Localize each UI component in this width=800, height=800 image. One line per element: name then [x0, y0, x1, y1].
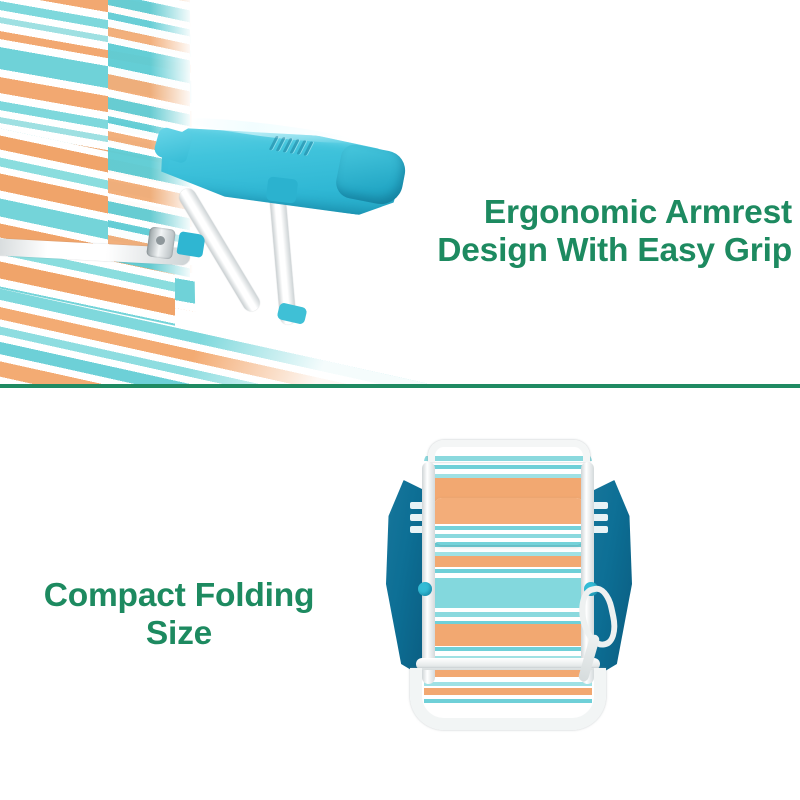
pillow-orange-band [434, 498, 584, 524]
panel-divider [0, 384, 800, 388]
chair-armrest-photo [0, 0, 420, 385]
folded-frame-top-bar [428, 440, 590, 462]
infographic-page: Ergonomic Armrest Design With Easy Grip [0, 0, 800, 800]
folded-frame-leg-loop [410, 668, 606, 730]
feature-panel-top: Ergonomic Armrest Design With Easy Grip [0, 0, 800, 385]
folded-frame-rail-left [422, 462, 435, 684]
armrest-bracket [176, 231, 205, 258]
fabric-band-orange-2 [424, 556, 592, 567]
armrest-slots-right [592, 502, 608, 542]
chair-headrest-pillow [434, 498, 584, 545]
armrest-post-collar [266, 176, 299, 203]
fabric-band-aqua-1 [424, 578, 592, 608]
folded-chair-photo [382, 436, 634, 741]
feature-headline-bottom: Compact Folding Size [14, 577, 344, 652]
ergonomic-armrest [160, 118, 402, 210]
fabric-band-orange-3 [424, 624, 592, 646]
pivot-knob-left [418, 582, 432, 596]
frame-hinge-pin [156, 236, 165, 245]
feature-headline-top: Ergonomic Armrest Design With Easy Grip [392, 194, 792, 269]
